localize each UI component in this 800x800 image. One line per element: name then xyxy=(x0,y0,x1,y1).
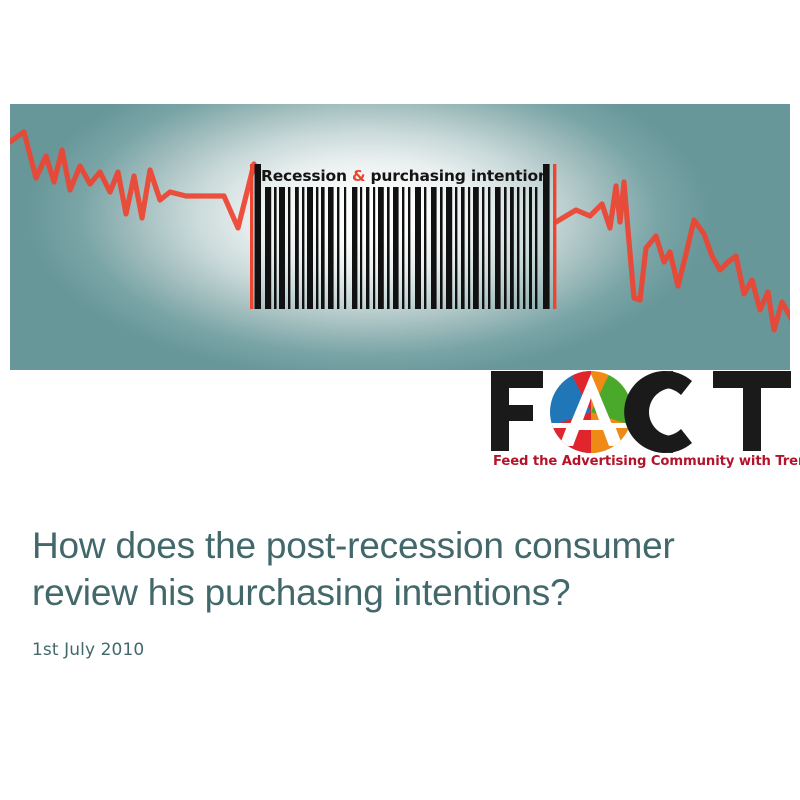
barcode-headline-ampersand: & xyxy=(352,167,365,185)
slide-date: 1st July 2010 xyxy=(32,640,762,660)
slide-canvas: Recession & purchasing intention xyxy=(0,0,800,800)
barcode-graphic: Recession & purchasing intention xyxy=(247,164,569,309)
trend-line-left xyxy=(10,132,254,228)
barcode-guard-right xyxy=(553,164,556,309)
hero-banner-image: Recession & purchasing intention xyxy=(10,104,790,370)
barcode-guard-left xyxy=(250,164,253,309)
barcode-headline-prefix: Recession xyxy=(261,167,352,185)
page-title: How does the post-recession consumer rev… xyxy=(32,522,738,616)
logo-letter-f xyxy=(491,371,543,451)
barcode-bar-group xyxy=(265,187,537,309)
title-block: How does the post-recession consumer rev… xyxy=(32,522,762,660)
logo-a-base-gap xyxy=(545,423,637,428)
trend-line-right xyxy=(556,182,790,330)
fact-logo-mark xyxy=(489,368,794,454)
fact-logo-tagline: Feed the Advertising Community with Tren… xyxy=(493,454,793,469)
logo-letter-t xyxy=(713,371,791,451)
fact-logo: Feed the Advertising Community with Tren… xyxy=(489,368,794,480)
barcode-headline: Recession & purchasing intention xyxy=(261,164,549,188)
hero-banner-inner: Recession & purchasing intention xyxy=(10,104,790,370)
barcode-headline-suffix: purchasing intention xyxy=(365,167,548,185)
logo-letter-c xyxy=(624,371,692,453)
